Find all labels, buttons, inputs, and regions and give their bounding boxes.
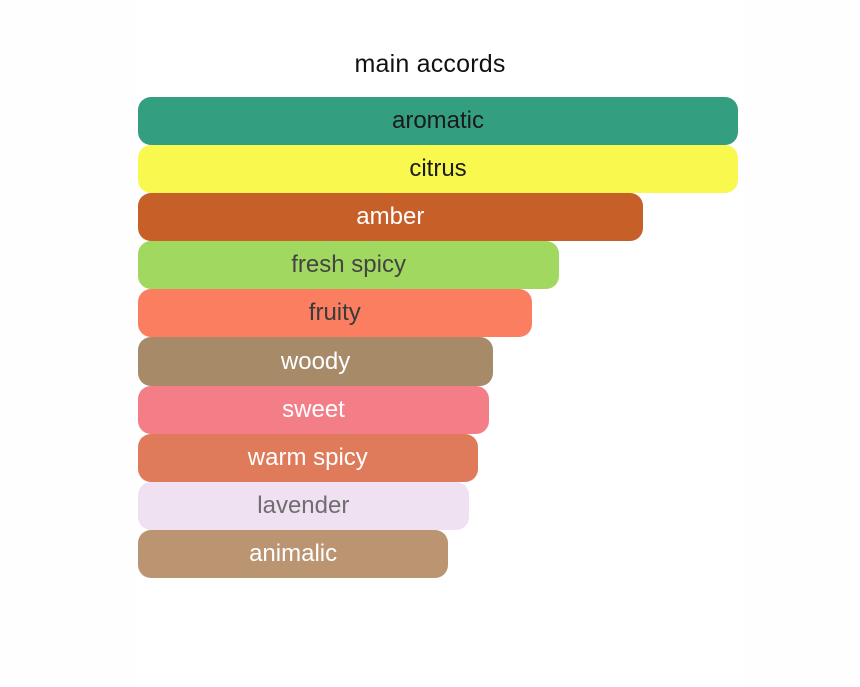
bar-row: sweet bbox=[138, 386, 738, 434]
bar-fruity[interactable]: fruity bbox=[138, 289, 532, 337]
bar-animalic[interactable]: animalic bbox=[138, 530, 448, 578]
bar-row: fruity bbox=[138, 289, 738, 337]
chart-title: main accords bbox=[0, 50, 860, 79]
bar-label: aromatic bbox=[392, 109, 484, 133]
bar-row: aromatic bbox=[138, 97, 738, 145]
bar-warm-spicy[interactable]: warm spicy bbox=[138, 434, 478, 482]
bar-row: warm spicy bbox=[138, 434, 738, 482]
bar-sweet[interactable]: sweet bbox=[138, 386, 489, 434]
bar-aromatic[interactable]: aromatic bbox=[138, 97, 738, 145]
bar-row: lavender bbox=[138, 482, 738, 530]
bar-label: sweet bbox=[282, 398, 345, 422]
bar-label: animalic bbox=[249, 542, 337, 566]
bar-lavender[interactable]: lavender bbox=[138, 482, 469, 530]
bar-row: amber bbox=[138, 193, 738, 241]
bar-fresh-spicy[interactable]: fresh spicy bbox=[138, 241, 559, 289]
bar-row: animalic bbox=[138, 530, 738, 578]
bar-label: amber bbox=[356, 205, 424, 229]
bar-label: warm spicy bbox=[248, 446, 368, 470]
chart-figure: main accords aromaticcitrusamberfresh sp… bbox=[0, 0, 860, 687]
bar-label: woody bbox=[281, 350, 350, 374]
bar-row: citrus bbox=[138, 145, 738, 193]
bar-row: fresh spicy bbox=[138, 241, 738, 289]
bar-label: fresh spicy bbox=[291, 253, 406, 277]
bar-label: lavender bbox=[257, 494, 349, 518]
bar-label: fruity bbox=[309, 301, 361, 325]
bar-label: citrus bbox=[409, 157, 466, 181]
bar-woody[interactable]: woody bbox=[138, 337, 493, 385]
bar-citrus[interactable]: citrus bbox=[138, 145, 738, 193]
bar-row: woody bbox=[138, 337, 738, 385]
bar-amber[interactable]: amber bbox=[138, 193, 643, 241]
bar-chart-bars: aromaticcitrusamberfresh spicyfruitywood… bbox=[138, 97, 738, 579]
